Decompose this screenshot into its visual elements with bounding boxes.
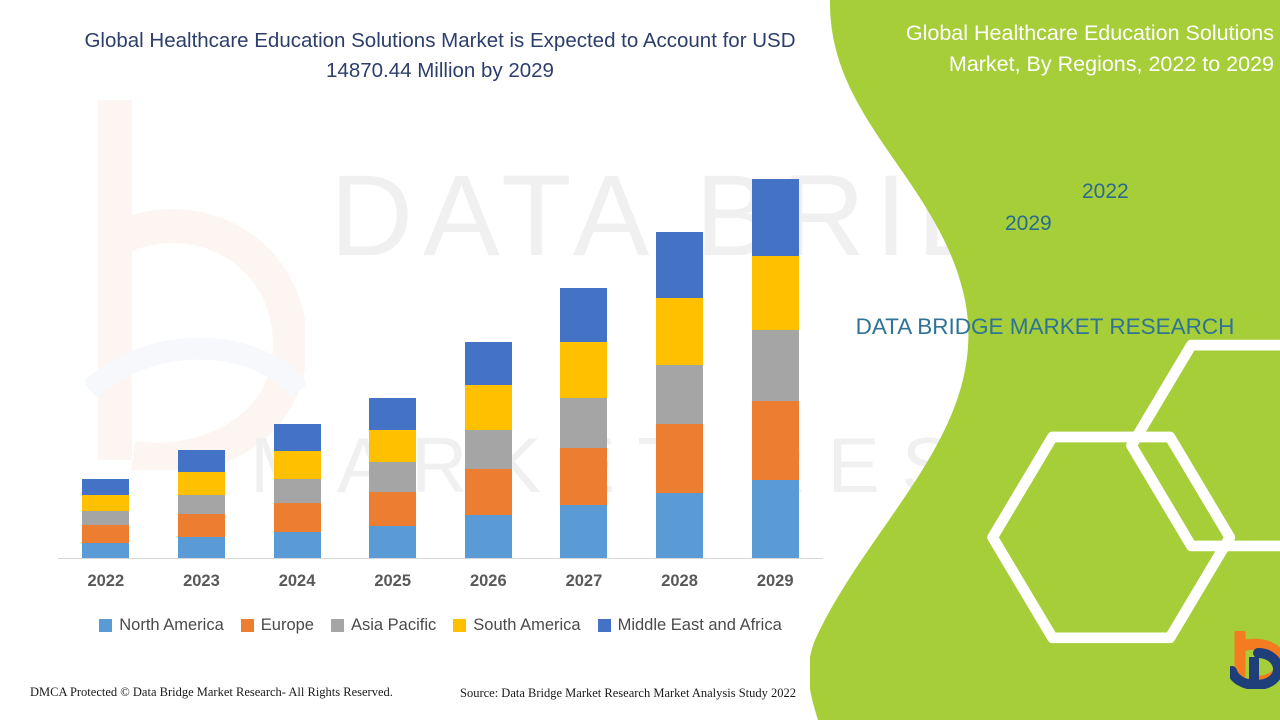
x-axis-line: [58, 558, 823, 559]
hexagon-label-end-year: 2029: [1005, 212, 1052, 236]
bar-segment-europe: [369, 492, 416, 527]
bar-segment-europe: [178, 514, 225, 536]
bar-segment-middle-east-and-africa: [274, 424, 321, 451]
bar-segment-europe: [465, 469, 512, 515]
hexagon-2029-shape: [993, 437, 1230, 638]
bar-segment-asia-pacific: [656, 365, 703, 424]
bar-column-2024: [274, 424, 321, 559]
x-axis-label-2022: 2022: [71, 572, 141, 591]
legend-swatch-icon: [99, 619, 112, 632]
bar-segment-north-america: [752, 480, 799, 559]
legend-swatch-icon: [241, 619, 254, 632]
bar-segment-asia-pacific: [178, 495, 225, 514]
legend-label: South America: [473, 616, 580, 635]
chart-plot-region: [58, 172, 823, 559]
bar-segment-asia-pacific: [752, 330, 799, 401]
bar-segment-north-america: [560, 505, 607, 559]
bar-segment-asia-pacific: [560, 398, 607, 448]
x-axis-label-2026: 2026: [453, 572, 523, 591]
bar-segment-europe: [656, 424, 703, 493]
legend-item-south-america[interactable]: South America: [453, 616, 580, 635]
bar-column-2023: [178, 450, 225, 559]
panel-title: Global Healthcare Education Solutions Ma…: [902, 18, 1274, 80]
bar-column-2025: [369, 398, 416, 559]
bar-segment-europe: [274, 503, 321, 532]
legend-swatch-icon: [453, 619, 466, 632]
legend-label: Asia Pacific: [351, 616, 436, 635]
bar-segment-europe: [560, 448, 607, 505]
bar-segment-asia-pacific: [274, 479, 321, 503]
bar-column-2026: [465, 342, 512, 559]
bar-segment-north-america: [465, 515, 512, 559]
chart-area: Global Healthcare Education Solutions Ma…: [0, 0, 860, 720]
hexagon-2022-shape: [1132, 345, 1280, 546]
bar-column-2027: [560, 288, 607, 559]
x-axis-label-2024: 2024: [262, 572, 332, 591]
legend-swatch-icon: [331, 619, 344, 632]
bar-segment-europe: [82, 525, 129, 542]
x-axis-tick-labels: 20222023202420252026202720282029: [58, 572, 823, 600]
bar-segment-middle-east-and-africa: [465, 342, 512, 385]
bar-segment-asia-pacific: [465, 430, 512, 470]
legend-item-europe[interactable]: Europe: [241, 616, 314, 635]
bar-segment-middle-east-and-africa: [752, 179, 799, 255]
legend-label: Middle East and Africa: [618, 616, 782, 635]
company-logo: DATA BRIDGE MARKET RESEARCH: [1230, 625, 1280, 693]
bar-segment-north-america: [82, 543, 129, 559]
legend-label: Europe: [261, 616, 314, 635]
x-axis-label-2025: 2025: [358, 572, 428, 591]
bar-segment-south-america: [274, 451, 321, 478]
hexagon-label-start-year: 2022: [1082, 180, 1129, 204]
bar-segment-south-america: [560, 342, 607, 398]
footer-dmca-notice: DMCA Protected © Data Bridge Market Rese…: [30, 685, 393, 700]
bar-segment-europe: [752, 401, 799, 479]
bar-segment-middle-east-and-africa: [560, 288, 607, 342]
bar-segment-asia-pacific: [82, 511, 129, 525]
bar-segment-south-america: [369, 430, 416, 463]
x-axis-label-2023: 2023: [166, 572, 236, 591]
bar-column-2028: [656, 232, 703, 559]
bar-segment-south-america: [178, 472, 225, 494]
bar-segment-middle-east-and-africa: [178, 450, 225, 472]
bar-segment-south-america: [656, 298, 703, 364]
bar-column-2029: [752, 179, 799, 559]
footer-source-note: Source: Data Bridge Market Research Mark…: [460, 686, 796, 701]
bar-segment-middle-east-and-africa: [82, 479, 129, 495]
bar-segment-middle-east-and-africa: [369, 398, 416, 430]
hexagon-year-group: 2022 2029: [967, 140, 1187, 295]
x-axis-label-2028: 2028: [645, 572, 715, 591]
bar-column-2022: [82, 479, 129, 559]
data-bridge-logo-mark-icon: [1230, 627, 1280, 689]
bar-segment-south-america: [82, 495, 129, 511]
bar-segment-north-america: [178, 537, 225, 559]
bar-segment-south-america: [752, 256, 799, 330]
legend-item-north-america[interactable]: North America: [99, 616, 224, 635]
legend-swatch-icon: [598, 619, 611, 632]
legend-item-asia-pacific[interactable]: Asia Pacific: [331, 616, 436, 635]
x-axis-label-2029: 2029: [740, 572, 810, 591]
bar-segment-north-america: [369, 526, 416, 559]
x-axis-label-2027: 2027: [549, 572, 619, 591]
bar-segment-asia-pacific: [369, 462, 416, 492]
chart-title: Global Healthcare Education Solutions Ma…: [60, 26, 820, 86]
legend-label: North America: [119, 616, 224, 635]
brand-panel: Global Healthcare Education Solutions Ma…: [810, 0, 1280, 720]
bar-segment-middle-east-and-africa: [656, 232, 703, 298]
bar-segment-north-america: [274, 532, 321, 559]
footer: DMCA Protected © Data Bridge Market Rese…: [0, 681, 860, 711]
brand-name: DATA BRIDGE MARKET RESEARCH: [810, 310, 1280, 343]
chart-legend: North AmericaEuropeAsia PacificSouth Ame…: [58, 616, 823, 635]
legend-item-middle-east-and-africa[interactable]: Middle East and Africa: [598, 616, 782, 635]
bar-segment-north-america: [656, 493, 703, 559]
bar-segment-south-america: [465, 385, 512, 430]
